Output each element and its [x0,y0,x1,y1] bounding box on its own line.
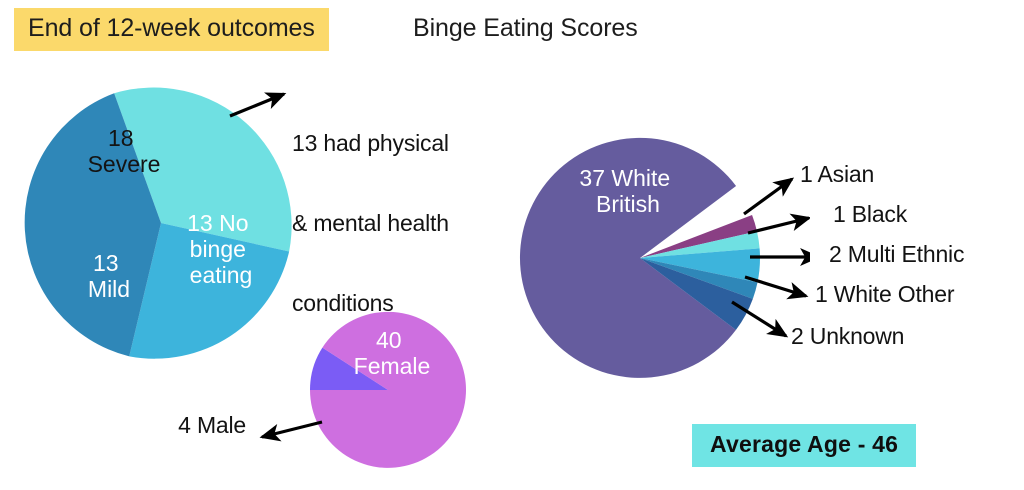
pie-slice-label-no-binge-eating: 13 No binge eating [187,210,255,288]
male-callout-arrow [248,418,324,446]
infographic-canvas: End of 12-week outcomes Binge Eating Sco… [0,0,1024,490]
average-age-badge: Average Age - 46 [692,424,916,467]
outcomes-note-arrow [228,78,298,118]
ethnicity-callout-asian: 1 Asian [800,161,874,188]
page-title-badge: End of 12-week outcomes [14,8,329,51]
male-callout: 4 Male [60,412,246,439]
gender-pie-chart: 40 Female [310,312,466,468]
outcomes-pie-chart: 18 Severe 13 No binge eating 13 Mild [23,85,299,361]
ethnicity-callout-white-other: 1 White Other [815,281,954,308]
ethnicity-callout-unknown: 2 Unknown [791,323,904,350]
outcomes-note-line-1: 13 had physical [292,130,449,157]
outcomes-note-line-2: & mental health [292,210,449,237]
page-subtitle: Binge Eating Scores [413,15,638,42]
ethnicity-callout-black: 1 Black [833,201,907,228]
ethnicity-callout-multi-ethnic: 2 Multi Ethnic [829,241,964,268]
pie-slice-label-mild: 13 Mild [88,250,130,302]
